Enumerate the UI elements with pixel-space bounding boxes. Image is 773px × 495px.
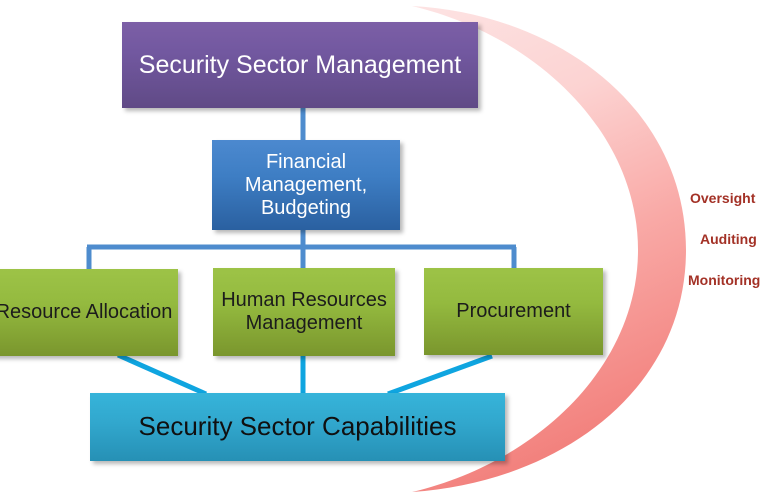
node-human-resources-management-label: Human Resources Management [213,289,395,335]
node-security-sector-management-label: Security Sector Management [139,51,461,80]
node-security-sector-capabilities[interactable]: Security Sector Capabilities [90,393,505,461]
node-security-sector-management[interactable]: Security Sector Management [122,22,478,108]
side-label-oversight: Oversight [690,190,755,206]
side-label-auditing: Auditing [700,231,757,247]
node-procurement-label: Procurement [456,300,571,323]
diagram-canvas: Security Sector Management Financial Man… [0,0,773,495]
node-human-resources-management[interactable]: Human Resources Management [213,268,395,356]
node-financial-management-budgeting-label: Financial Management, Budgeting [212,151,400,220]
node-resource-allocation-label: Resource Allocation [0,301,172,324]
node-financial-management-budgeting[interactable]: Financial Management, Budgeting [212,140,400,230]
connector-procurement-to-capabilities [388,356,492,394]
node-security-sector-capabilities-label: Security Sector Capabilities [139,412,457,442]
node-procurement[interactable]: Procurement [424,268,603,355]
side-label-monitoring: Monitoring [688,272,760,288]
node-resource-allocation[interactable]: Resource Allocation [0,269,178,356]
connector-resource-to-capabilities [118,355,206,394]
